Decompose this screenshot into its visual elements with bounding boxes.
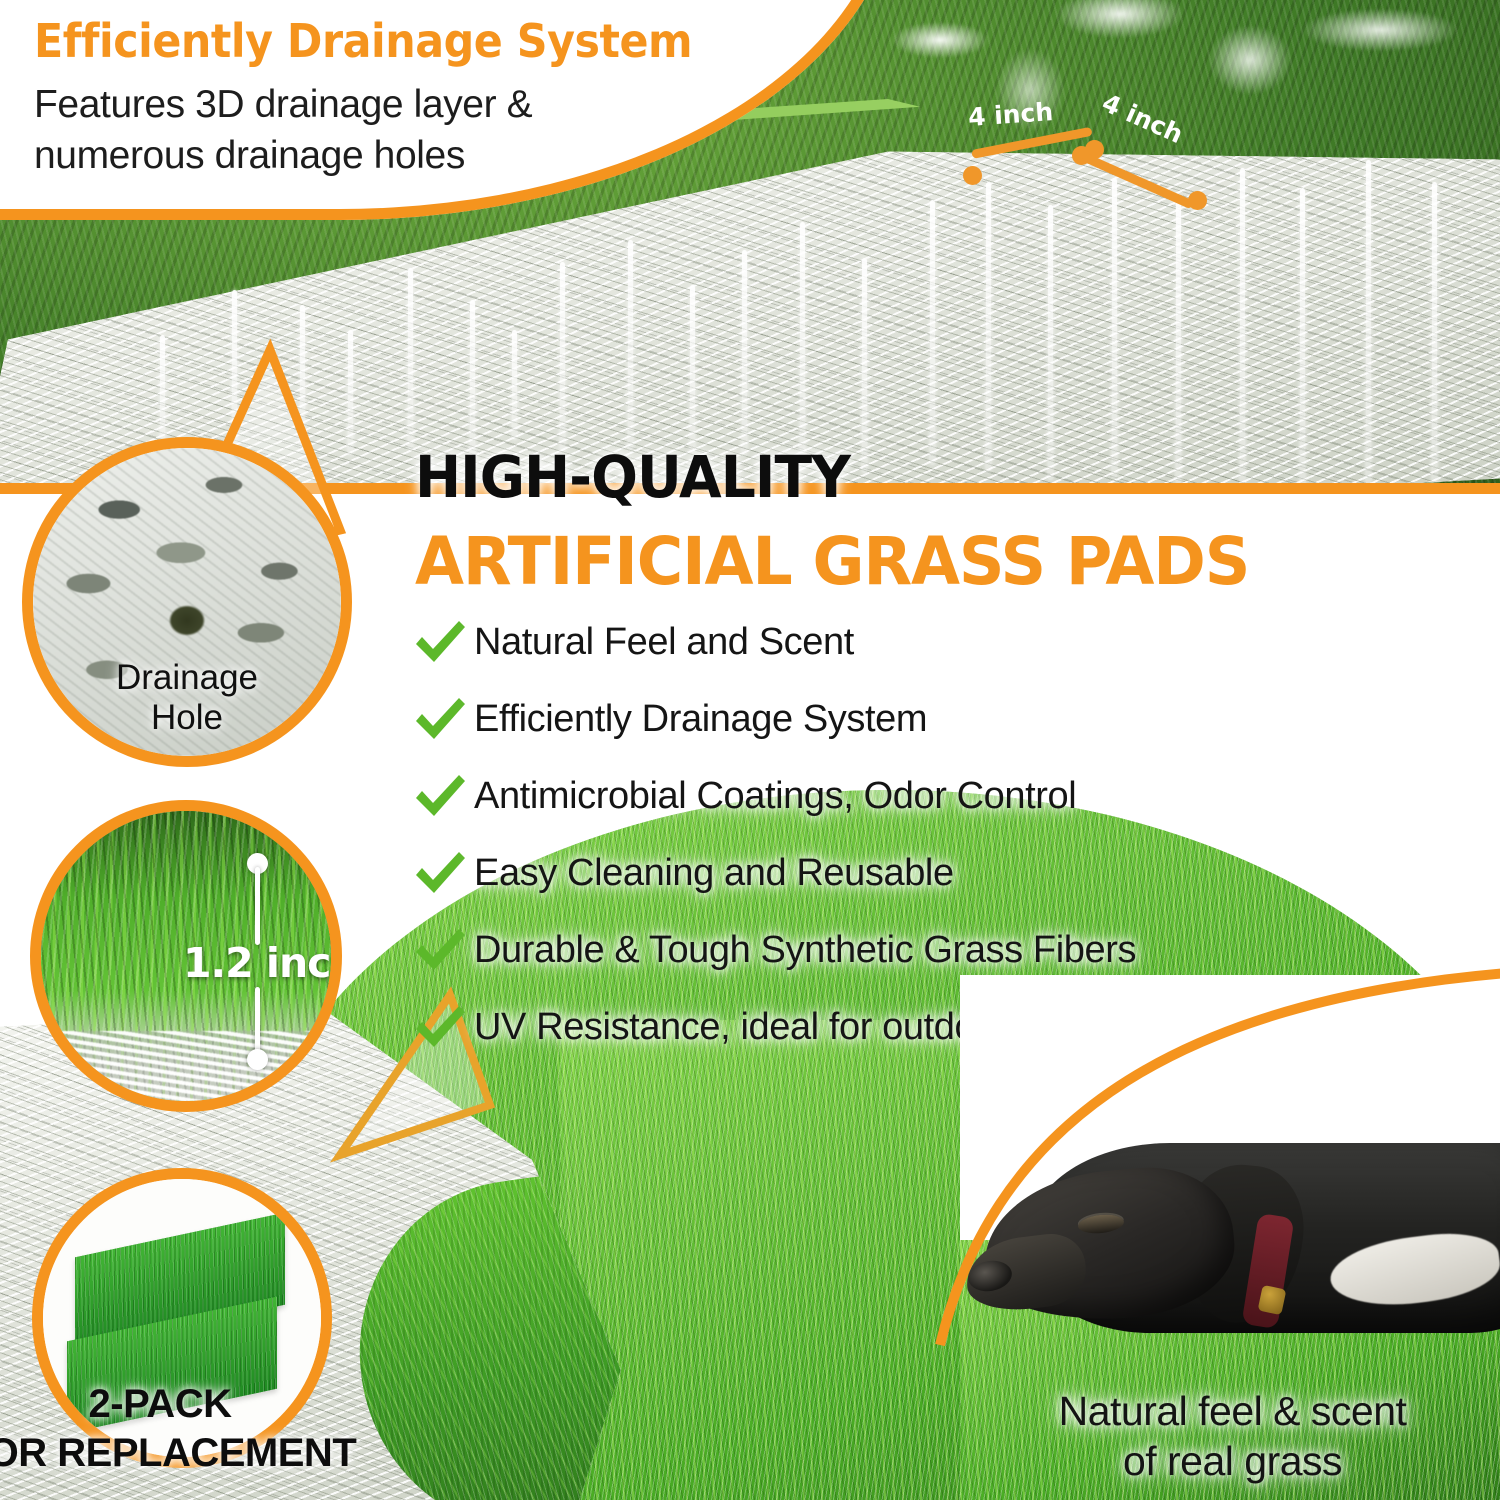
- headline-line2: ARTIFICIAL GRASS PADS: [415, 523, 1249, 600]
- water-drip: [1048, 205, 1053, 480]
- callout-drainage-hole: Drainage Hole: [22, 437, 352, 767]
- spacing-dot-right-end: [1188, 191, 1207, 210]
- water-drip: [742, 250, 747, 455]
- check-icon: [412, 849, 474, 899]
- measure-dot-bottom: [247, 1049, 268, 1070]
- dog-caption-line2: of real grass: [960, 1436, 1500, 1486]
- water-drip: [690, 285, 695, 453]
- feature-item: Easy Cleaning and Reusable: [412, 835, 1412, 912]
- feature-item: Natural Feel and Scent: [412, 604, 1412, 681]
- measure-line-lower: [255, 987, 260, 1055]
- check-icon: [412, 926, 474, 976]
- header-title: Efficiently Drainage System: [34, 14, 741, 68]
- feature-label: Antimicrobial Coatings, Odor Control: [474, 775, 1076, 818]
- water-drip: [1240, 168, 1245, 484]
- pile-height-backing: [30, 1031, 342, 1101]
- water-drip: [862, 258, 867, 473]
- headline-block: HIGH-QUALITY ARTIFICIAL GRASS PADS: [415, 443, 1284, 600]
- header-subtitle-line2: numerous drainage holes: [34, 131, 794, 182]
- headline-line1: HIGH-QUALITY: [415, 443, 1240, 511]
- header-text-block: Efficiently Drainage System Features 3D …: [34, 14, 794, 181]
- check-icon: [412, 772, 474, 822]
- dog-panel-orange-arc: [900, 930, 1500, 1350]
- feature-label: Easy Cleaning and Reusable: [474, 852, 954, 895]
- header-subtitle-line1: Features 3D drainage layer &: [34, 80, 794, 131]
- infographic-stage: 4 inch 4 inch Efficiently Drainage Syste…: [0, 0, 1500, 1500]
- callout-drainage-caption: Drainage Hole: [33, 658, 341, 738]
- feature-label: Natural Feel and Scent: [474, 621, 854, 664]
- water-drip: [512, 330, 517, 440]
- two-pack-line2: FOR REPLACEMENT: [0, 1431, 360, 1476]
- callout-drainage-line1: Drainage: [33, 658, 341, 698]
- spacing-label-left: 4 inch: [967, 97, 1054, 132]
- water-drip: [1176, 196, 1181, 484]
- spacing-label-left-text: 4 inch: [967, 97, 1054, 132]
- water-drip: [1366, 160, 1371, 485]
- feature-item: Antimicrobial Coatings, Odor Control: [412, 758, 1412, 835]
- callout-pile-height: 1.2 inch: [30, 800, 342, 1112]
- water-drip: [800, 222, 805, 460]
- water-drip: [986, 182, 991, 472]
- two-pack-line1: 2-PACK: [0, 1382, 360, 1427]
- pile-height-label: 1.2 inch: [183, 939, 342, 987]
- header-subtitle: Features 3D drainage layer & numerous dr…: [34, 80, 794, 181]
- water-drip: [930, 200, 935, 465]
- water-drip: [1300, 188, 1305, 488]
- check-icon: [412, 618, 474, 668]
- callout-drainage-line2: Hole: [33, 698, 341, 738]
- water-drip: [1112, 178, 1117, 478]
- check-icon: [412, 695, 474, 745]
- check-icon: [412, 1003, 474, 1053]
- water-drip: [560, 262, 565, 450]
- water-drip: [1432, 182, 1437, 487]
- dog-caption-line1: Natural feel & scent: [960, 1386, 1500, 1436]
- dog-panel-caption: Natural feel & scent of real grass: [960, 1386, 1500, 1486]
- two-pack-caption: 2-PACK FOR REPLACEMENT: [0, 1382, 360, 1476]
- measure-line-upper: [255, 867, 260, 945]
- feature-label: Efficiently Drainage System: [474, 698, 927, 741]
- feature-item: Efficiently Drainage System: [412, 681, 1412, 758]
- spacing-dot-left-start: [963, 166, 982, 185]
- water-drip: [628, 240, 633, 450]
